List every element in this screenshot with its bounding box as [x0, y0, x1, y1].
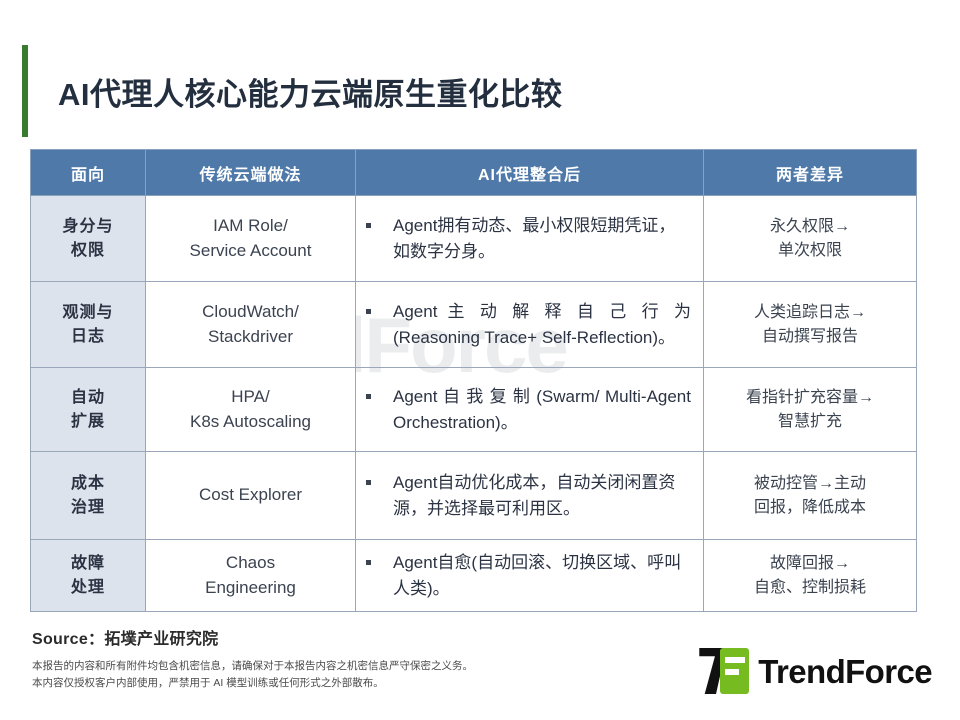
comparison-table: 面向 传统云端做法 AI代理整合后 两者差异 身分与权限 IAM Role/Se…	[30, 149, 917, 612]
column-header-difference: 两者差异	[704, 150, 917, 196]
table-row: 故障处理 ChaosEngineering Agent自愈(自动回滚、切换区域、…	[31, 540, 917, 612]
cell-agent-text: Agent 自 我 复 制 (Swarm/ Multi-Agent Orches…	[393, 384, 691, 435]
cell-agent: Agent 自 我 复 制 (Swarm/ Multi-Agent Orches…	[356, 368, 704, 452]
table-row: 观测与日志 CloudWatch/Stackdriver Agent 主 动 解…	[31, 282, 917, 368]
column-header-traditional: 传统云端做法	[146, 150, 356, 196]
column-header-agent: AI代理整合后	[356, 150, 704, 196]
cell-aspect: 身分与权限	[31, 196, 146, 282]
cell-traditional: Cost Explorer	[146, 452, 356, 540]
trendforce-logo-text: TrendForce	[758, 655, 932, 688]
bullet-square-icon	[366, 394, 371, 399]
cell-agent-text: Agent自愈(自动回滚、切换区域、呼叫人类)。	[393, 550, 691, 601]
cell-traditional: IAM Role/Service Account	[146, 196, 356, 282]
cell-difference: 永久权限→单次权限	[704, 196, 917, 282]
table-body: 身分与权限 IAM Role/Service Account Agent拥有动态…	[31, 196, 917, 612]
cell-aspect: 成本治理	[31, 452, 146, 540]
cell-agent: Agent拥有动态、最小权限短期凭证，如数字分身。	[356, 196, 704, 282]
title-accent-bar	[22, 45, 28, 137]
trendforce-mark-icon	[699, 648, 749, 694]
cell-difference: 故障回报→自愈、控制损耗	[704, 540, 917, 612]
disclaimer-line-2: 本内容仅授权客户内部使用，严禁用于 AI 模型训练或任何形式之外部散布。	[32, 675, 473, 692]
bullet-square-icon	[366, 560, 371, 565]
cell-traditional: HPA/K8s Autoscaling	[146, 368, 356, 452]
cell-difference: 看指针扩充容量→智慧扩充	[704, 368, 917, 452]
comparison-table-container: 面向 传统云端做法 AI代理整合后 两者差异 身分与权限 IAM Role/Se…	[30, 149, 916, 612]
slide-title-block: AI代理人核心能力云端原生重化比较	[22, 45, 563, 137]
cell-aspect: 自动扩展	[31, 368, 146, 452]
cell-aspect: 观测与日志	[31, 282, 146, 368]
table-row: 自动扩展 HPA/K8s Autoscaling Agent 自 我 复 制 (…	[31, 368, 917, 452]
cell-agent-text: Agent自动优化成本，自动关闭闲置资源，并选择最可利用区。	[393, 470, 691, 521]
cell-difference: 人类追踪日志→自动撰写报告	[704, 282, 917, 368]
table-header-row: 面向 传统云端做法 AI代理整合后 两者差异	[31, 150, 917, 196]
cell-agent: Agent自动优化成本，自动关闭闲置资源，并选择最可利用区。	[356, 452, 704, 540]
cell-traditional: ChaosEngineering	[146, 540, 356, 612]
cell-agent-text: Agent拥有动态、最小权限短期凭证，如数字分身。	[393, 213, 691, 264]
cell-difference: 被动控管→主动回报，降低成本	[704, 452, 917, 540]
source-label: Source：拓墣产业研究院	[32, 625, 473, 649]
page-title: AI代理人核心能力云端原生重化比较	[58, 69, 563, 114]
disclaimer-line-1: 本报告的内容和所有附件均包含机密信息，请确保对于本报告内容之机密信息严守保密之义…	[32, 658, 473, 675]
cell-agent: Agent自愈(自动回滚、切换区域、呼叫人类)。	[356, 540, 704, 612]
footer-block: Source：拓墣产业研究院 本报告的内容和所有附件均包含机密信息，请确保对于本…	[32, 625, 473, 693]
bullet-square-icon	[366, 309, 371, 314]
cell-traditional: CloudWatch/Stackdriver	[146, 282, 356, 368]
cell-agent: Agent 主 动 解 释 自 己 行 为 (Reasoning Trace+ …	[356, 282, 704, 368]
cell-agent-text: Agent 主 动 解 释 自 己 行 为 (Reasoning Trace+ …	[393, 299, 691, 350]
trendforce-logo: TrendForce	[699, 648, 932, 694]
disclaimer-block: 本报告的内容和所有附件均包含机密信息，请确保对于本报告内容之机密信息严守保密之义…	[32, 658, 473, 693]
bullet-square-icon	[366, 223, 371, 228]
cell-aspect: 故障处理	[31, 540, 146, 612]
bullet-square-icon	[366, 480, 371, 485]
column-header-aspect: 面向	[31, 150, 146, 196]
table-row: 成本治理 Cost Explorer Agent自动优化成本，自动关闭闲置资源，…	[31, 452, 917, 540]
table-row: 身分与权限 IAM Role/Service Account Agent拥有动态…	[31, 196, 917, 282]
